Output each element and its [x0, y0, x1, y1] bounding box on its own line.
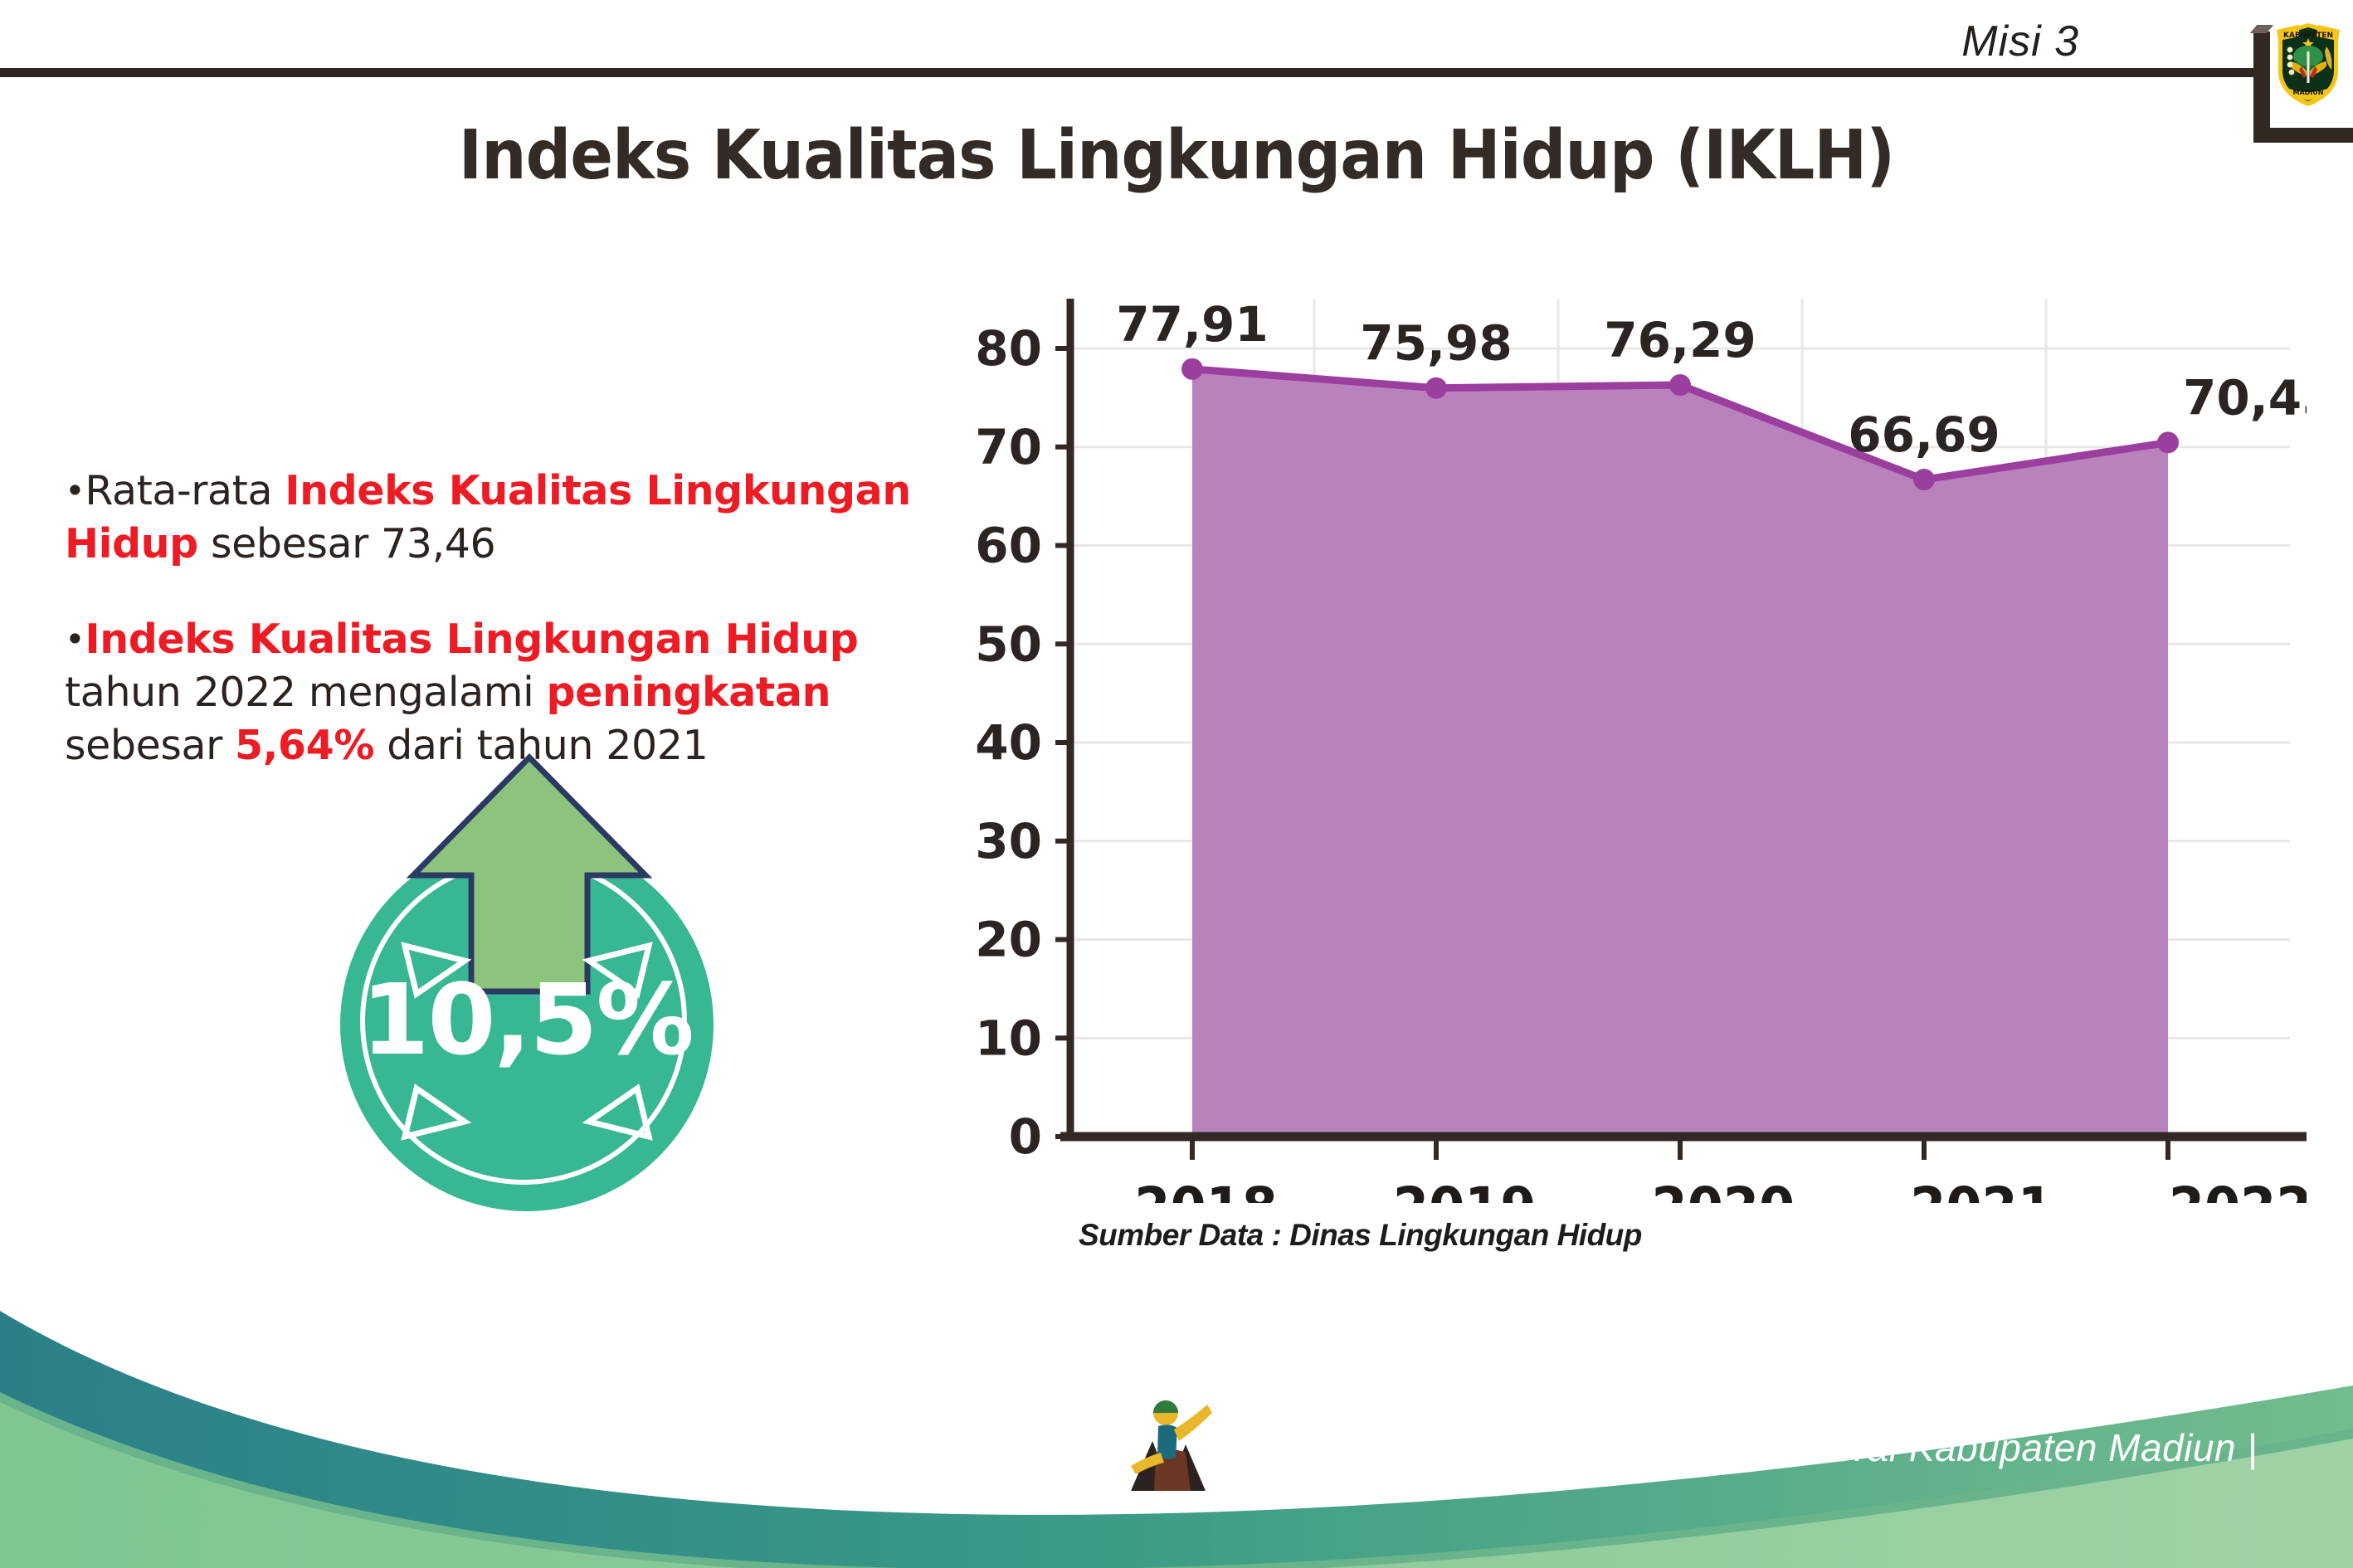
- dancer-logo-icon: [1124, 1393, 1215, 1497]
- data-label: 76,29: [1604, 312, 1756, 368]
- data-label: 75,98: [1360, 315, 1512, 372]
- bullet-1-text-b: sebesar 73,46: [198, 520, 495, 567]
- y-tick-label: 20: [975, 912, 1042, 968]
- data-label: 66,69: [1848, 407, 2000, 463]
- y-tick-label: 80: [975, 320, 1042, 377]
- x-tick-label: 2020: [1652, 1176, 1795, 1203]
- bullet-marker: •: [65, 470, 85, 511]
- y-tick-label: 30: [975, 813, 1042, 869]
- data-label: 77,91: [1116, 296, 1268, 353]
- infographic-slide: Misi 3 KABUPATEN MADIUN Indeks Kualitas …: [0, 0, 2353, 1568]
- bullet-1-text-a: Rata-rata: [85, 467, 285, 514]
- data-point: [1669, 374, 1691, 396]
- bullet-marker: •: [65, 619, 85, 660]
- data-point: [2157, 431, 2179, 453]
- chart-source-note: Sumber Data : Dinas Lingkungan Hidup: [1079, 1218, 1642, 1253]
- y-tick-label: 70: [975, 419, 1042, 475]
- mission-label: Misi 3: [1961, 17, 2079, 66]
- footer-banner: Media Infografis Data Statistik Sektoral…: [0, 1286, 2353, 1568]
- growth-badge: 10,5%: [324, 751, 755, 1207]
- area-fill: [1192, 369, 2168, 1137]
- data-point: [1181, 358, 1203, 380]
- kabupaten-madiun-emblem-icon: KABUPATEN MADIUN: [2273, 18, 2343, 110]
- data-label: 70,45: [2183, 369, 2307, 426]
- footer-caption: Media Infografis Data Statistik Sektoral…: [1224, 1425, 2258, 1470]
- emblem-bottom-text: MADIUN: [2293, 89, 2324, 96]
- y-tick-label: 50: [975, 616, 1042, 672]
- header-divider: [0, 68, 2265, 77]
- badge-value: 10,5%: [340, 962, 714, 1077]
- page-title: Indeks Kualitas Lingkungan Hidup (IKLH): [82, 116, 2270, 195]
- iklh-area-chart: 77,9175,9876,2966,6970,45010203040506070…: [962, 290, 2307, 1203]
- y-tick-label: 40: [975, 714, 1042, 771]
- bullet-2-highlight-b: peningkatan: [547, 669, 831, 716]
- x-tick-label: 2019: [1393, 1176, 1537, 1203]
- list-item: •Rata-rata Indeks Kualitas Lingkungan Hi…: [65, 465, 986, 570]
- y-tick-label: 60: [975, 518, 1042, 574]
- bullet-2-highlight-a: Indeks Kualitas Lingkungan Hidup: [85, 616, 858, 663]
- y-tick-label: 10: [975, 1010, 1042, 1066]
- x-tick-label: 2021: [1910, 1176, 2053, 1203]
- list-item: •Indeks Kualitas Lingkungan Hidup tahun …: [65, 613, 986, 772]
- chart-canvas: 77,9175,9876,2966,6970,45010203040506070…: [962, 290, 2307, 1203]
- x-tick-label: 2018: [1134, 1176, 1278, 1203]
- x-tick-label: 2022: [2169, 1176, 2307, 1203]
- bullet-2-text-b: sebesar: [65, 722, 235, 769]
- bullet-2-text-a: tahun 2022 mengalami: [65, 669, 547, 716]
- data-point: [1425, 377, 1447, 399]
- data-point: [1913, 469, 1935, 490]
- y-tick-label: 0: [1009, 1108, 1042, 1165]
